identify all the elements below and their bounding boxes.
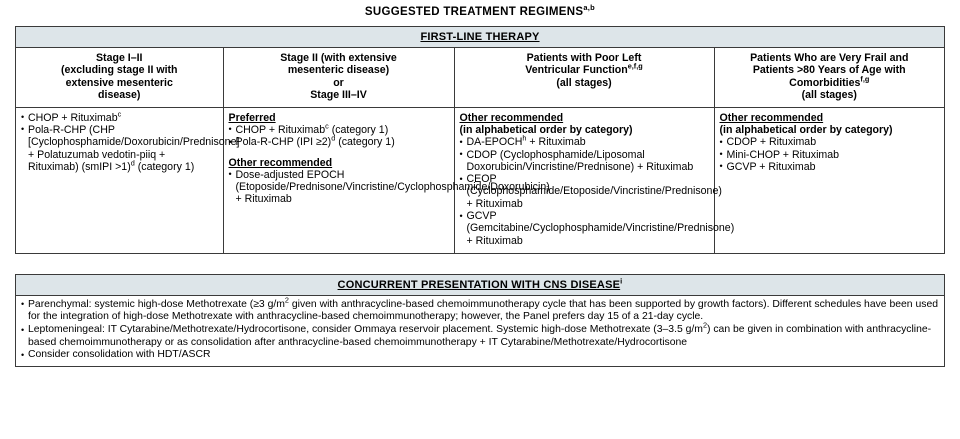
first-line-band-label: FIRST-LINE THERAPY xyxy=(420,31,539,43)
list-item: GCVP (Gemcitabine/Cyclophosphamide/Vincr… xyxy=(460,210,710,247)
other-recommended-list: CDOP + Rituximab Mini-CHOP + Rituximab G… xyxy=(720,136,941,173)
header-superscript: f,g xyxy=(860,74,869,83)
cell-stage-1-2: CHOP + Rituximabc Pola-R-CHP (CHP [Cyclo… xyxy=(16,107,223,253)
list-item: DA-EPOCHh + Rituximab xyxy=(460,136,710,148)
regimen-text: CEOP (Cyclophosphamide/Etoposide/Vincris… xyxy=(467,173,722,210)
cell-stage-2-extensive: Preferred CHOP + Rituximabc (category 1)… xyxy=(223,107,454,253)
header-line: mesenteric disease) xyxy=(288,64,389,76)
header-line: (all stages) xyxy=(802,89,857,101)
list-item: CHOP + Rituximabc xyxy=(21,112,219,124)
cell-poor-lv-function: Other recommended (in alphabetical order… xyxy=(454,107,714,253)
list-item: Dose-adjusted EPOCH (Etoposide/Prednison… xyxy=(229,169,450,206)
regimens-table: Stage I–II (excluding stage II with exte… xyxy=(16,48,944,253)
alphabetical-order-note: (in alphabetical order by category) xyxy=(720,124,941,136)
list-item: Leptomeningeal: IT Cytarabine/Methotrexa… xyxy=(21,324,939,349)
regimen-text: CHOP + Rituximab xyxy=(236,124,326,136)
cns-band-label: CONCURRENT PRESENTATION WITH CNS DISEASE xyxy=(338,279,621,291)
header-line: or xyxy=(333,77,344,89)
page-title-text: SUGGESTED TREATMENT REGIMENS xyxy=(365,6,583,18)
header-line: disease) xyxy=(98,89,140,101)
preferred-list: CHOP + Rituximabc (category 1) Pola-R-CH… xyxy=(229,124,450,149)
column-header-stage-2-extensive: Stage II (with extensive mesenteric dise… xyxy=(223,48,454,107)
header-line: (all stages) xyxy=(556,77,611,89)
header-line: (excluding stage II with xyxy=(61,64,178,76)
column-header-stage-1-2: Stage I–II (excluding stage II with exte… xyxy=(16,48,223,107)
list-item: CEOP (Cyclophosphamide/Etoposide/Vincris… xyxy=(460,173,710,210)
regimen-text: CHOP + Rituximab xyxy=(28,112,118,124)
category-suffix: (category 1) xyxy=(329,124,388,136)
subsection-preferred-label: Preferred xyxy=(229,112,450,124)
alphabetical-order-note: (in alphabetical order by category) xyxy=(460,124,710,136)
header-line: Patients >80 Years of Age with xyxy=(753,64,906,76)
regimen-text: CDOP + Rituximab xyxy=(727,136,817,148)
list-item: CDOP + Rituximab xyxy=(720,136,941,148)
cns-disease-box: CONCURRENT PRESENTATION WITH CNS DISEASE… xyxy=(15,274,945,367)
other-recommended-list: DA-EPOCHh + Rituximab CDOP (Cyclophospha… xyxy=(460,136,710,247)
list-item: Pola-R-CHP (IPI ≥2)d (category 1) xyxy=(229,136,450,148)
list-item: Pola-R-CHP (CHP [Cyclophosphamide/Doxoru… xyxy=(21,124,219,173)
regimen-list: CHOP + Rituximabc Pola-R-CHP (CHP [Cyclo… xyxy=(21,112,219,173)
spacer xyxy=(229,149,450,157)
header-line: Ventricular Function xyxy=(525,64,627,76)
footnote-ref: h xyxy=(522,134,526,143)
subsection-other-label: Other recommended xyxy=(460,112,710,124)
header-line: extensive mesenteric xyxy=(66,77,173,89)
list-item: Mini-CHOP + Rituximab xyxy=(720,149,941,161)
other-recommended-list: Dose-adjusted EPOCH (Etoposide/Prednison… xyxy=(229,169,450,206)
header-line: Stage I–II xyxy=(96,52,143,64)
list-item: CDOP (Cyclophosphamide/Liposomal Doxorub… xyxy=(460,149,710,174)
subsection-other-label: Other recommended xyxy=(229,157,450,169)
regimen-text: GCVP + Rituximab xyxy=(727,161,816,173)
treatment-regimens-page: SUGGESTED TREATMENT REGIMENSa,b FIRST-LI… xyxy=(0,0,960,439)
regimen-text: Mini-CHOP + Rituximab xyxy=(727,149,840,161)
column-header-very-frail: Patients Who are Very Frail and Patients… xyxy=(714,48,944,107)
cell-very-frail: Other recommended (in alphabetical order… xyxy=(714,107,944,253)
cns-body: Parenchymal: systemic high-dose Methotre… xyxy=(16,296,944,366)
list-item: GCVP + Rituximab xyxy=(720,161,941,173)
footnote-ref: c xyxy=(118,109,122,118)
header-line: Comorbidities xyxy=(789,77,860,89)
first-line-therapy-box: FIRST-LINE THERAPY Stage I–II (excluding… xyxy=(15,26,945,254)
header-line: Stage III–IV xyxy=(310,89,367,101)
regimen-text: CDOP (Cyclophosphamide/Liposomal Doxorub… xyxy=(467,149,694,173)
table-header-row: Stage I–II (excluding stage II with exte… xyxy=(16,48,944,107)
cns-band-superscript: i xyxy=(620,276,622,285)
page-title-superscript: a,b xyxy=(583,3,595,12)
category-suffix: (category 1) xyxy=(335,136,394,148)
list-item: Parenchymal: systemic high-dose Methotre… xyxy=(21,299,939,324)
list-item: Consider consolidation with HDT/ASCR xyxy=(21,349,939,362)
first-line-band: FIRST-LINE THERAPY xyxy=(16,27,944,48)
header-line: Patients with Poor Left xyxy=(527,52,642,64)
header-line: Patients Who are Very Frail and xyxy=(750,52,908,64)
table-content-row: CHOP + Rituximabc Pola-R-CHP (CHP [Cyclo… xyxy=(16,107,944,253)
column-header-poor-lv-function: Patients with Poor Left Ventricular Func… xyxy=(454,48,714,107)
header-superscript: e,f,g xyxy=(628,62,643,71)
regimen-text: Pola-R-CHP (IPI ≥2) xyxy=(236,136,332,148)
regimen-text: GCVP (Gemcitabine/Cyclophosphamide/Vincr… xyxy=(467,210,735,247)
cns-list: Parenchymal: systemic high-dose Methotre… xyxy=(21,299,939,362)
footnote-ref: d xyxy=(131,158,135,167)
header-line: Stage II (with extensive xyxy=(280,52,397,64)
cns-text: Consider consolidation with HDT/ASCR xyxy=(28,349,211,360)
subsection-other-label: Other recommended xyxy=(720,112,941,124)
list-item: CHOP + Rituximabc (category 1) xyxy=(229,124,450,136)
page-title: SUGGESTED TREATMENT REGIMENSa,b xyxy=(0,0,960,19)
cns-band: CONCURRENT PRESENTATION WITH CNS DISEASE… xyxy=(16,275,944,296)
